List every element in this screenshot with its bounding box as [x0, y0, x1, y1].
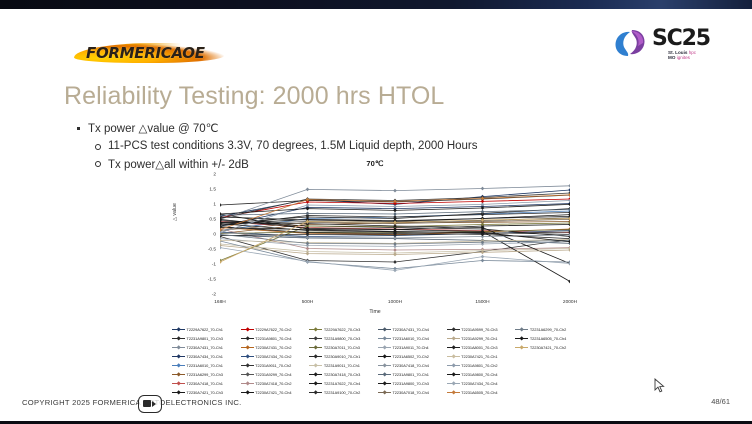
chart-x-tick: 1500H [475, 300, 489, 305]
legend-swatch-icon [309, 354, 322, 360]
legend-swatch-icon [172, 363, 185, 369]
chart-y-tick: -0.5 [208, 248, 216, 253]
legend-label: T2230A7434_70-Ch1 [187, 354, 223, 359]
legend-item: T2230A7421_70-Ch2 [515, 343, 582, 352]
legend-label: T2230A7421_70-Ch3 [187, 390, 223, 395]
legend-swatch-icon [515, 336, 528, 342]
legend-label: T2231A9801_70-Ch3 [187, 336, 223, 341]
chart-y-tick: 2 [213, 173, 216, 178]
legend-item: T2231A6505_70-Ch4 [447, 388, 514, 397]
legend-label: T2231A6010_70-Ch4 [392, 336, 428, 341]
legend-item: T2231A6502_70-Ch2 [378, 352, 445, 361]
legend-item: T2230A7418_70-Ch2 [241, 379, 308, 388]
legend-item: T2230A7431_70-Ch2 [241, 343, 308, 352]
legend-item: T2231A6299_70-Ch3 [172, 370, 239, 379]
chart-series-marker [481, 259, 485, 263]
legend-item: T2230A7421_70-Ch1 [447, 352, 514, 361]
legend-label: T2231A9800_70-Ch3 [324, 336, 360, 341]
chart-series-marker [481, 187, 485, 191]
bullet-item: 11-PCS test conditions 3.3V, 70 degrees,… [74, 140, 478, 152]
legend-item: T2231A8001_70-Ch3 [447, 343, 514, 352]
legend-label: T2230A7011_70-Ch3 [324, 345, 360, 350]
legend-swatch-icon [378, 372, 391, 378]
sc25-text: SC25 [652, 26, 710, 51]
legend-swatch-icon [447, 336, 460, 342]
legend-item: T2230A7431_70-Ch4 [378, 325, 445, 334]
presentation-slide: FORMERICAOE SC25 St. Louis hpc MO ignite… [0, 9, 752, 421]
sc25-tagline-city: St. Louis [668, 50, 687, 55]
legend-item: T2229A7622_70-Ch3 [309, 325, 376, 334]
legend-item: T2231A6010_70-Ch1 [172, 361, 239, 370]
legend-swatch-icon [447, 372, 460, 378]
legend-label: T2229A7622_70-Ch3 [324, 327, 360, 332]
chart-x-tick: 168H [214, 300, 225, 305]
legend-swatch-icon [241, 390, 254, 396]
legend-spacer [515, 388, 582, 397]
chart-series-marker [306, 203, 310, 207]
chart-x-axis-label: Time [160, 309, 590, 315]
legend-label: T2231A9011_70-Ch4 [392, 345, 428, 350]
legend-swatch-icon [447, 381, 460, 387]
mouse-pointer-icon [654, 378, 666, 394]
sc25-tagline: St. Louis hpc MO ignites [668, 50, 696, 61]
legend-swatch-icon [515, 345, 528, 351]
chart-y-tick: 0 [213, 233, 216, 238]
legend-swatch-icon [172, 354, 185, 360]
sc25-swirl-icon [612, 28, 648, 58]
legend-label: T2229A7622_70-Ch2 [255, 327, 291, 332]
legend-item: T2231A7622_70-Ch4 [309, 379, 376, 388]
legend-item: T2231A9299_70-Ch1 [447, 334, 514, 343]
legend-label: T2231A6505_70-Ch4 [461, 390, 497, 395]
legend-swatch-icon [447, 354, 460, 360]
legend-label: T2230A7434_70-Ch2 [255, 354, 291, 359]
legend-swatch-icon [309, 363, 322, 369]
legend-item: T2231A6299_70-Ch2 [515, 325, 582, 334]
legend-label: T2230A7434_70-Ch4 [461, 381, 497, 386]
legend-swatch-icon [309, 381, 322, 387]
chart-series-marker [306, 188, 310, 192]
legend-label: T2230A7421_70-Ch4 [255, 390, 291, 395]
legend-item: T2230A7018_70-Ch4 [378, 388, 445, 397]
legend-swatch-icon [172, 372, 185, 378]
legend-label: T2231A7622_70-Ch4 [324, 381, 360, 386]
legend-label: T2231A9800_70-Ch3 [392, 381, 428, 386]
video-letterbox-top [0, 0, 752, 9]
legend-item: T2231A9801_70-Ch2 [447, 361, 514, 370]
chart-series-marker [393, 242, 397, 246]
legend-item: T2231A9801_70-Ch3 [172, 334, 239, 343]
legend-item: T2231A9800_70-Ch3 [309, 334, 376, 343]
sc25-tagline-hpc: hpc [689, 50, 696, 55]
legend-label: T2231A8001_70-Ch3 [461, 345, 497, 350]
chart-x-tick: 500H [302, 300, 313, 305]
legend-item: T2230A7431_70-Ch1 [172, 343, 239, 352]
chart-y-tick: -1 [212, 263, 216, 268]
chart-series-marker [393, 212, 397, 216]
reliability-line-chart: 70℃ △ value Time 21.510.50-0.5-1-1.5-2 1… [160, 159, 590, 319]
legend-label: T2231A6502_70-Ch2 [392, 354, 428, 359]
chart-y-tick: 0.5 [209, 218, 216, 223]
formerica-wordmark: FORMERICAOE [86, 44, 205, 62]
legend-item: T2231A9299_70-Ch4 [241, 370, 308, 379]
legend-swatch-icon [241, 336, 254, 342]
legend-swatch-icon [378, 327, 391, 333]
legend-swatch-icon [241, 363, 254, 369]
bullet-item: Tx power △value @ 70℃ [74, 121, 478, 135]
legend-label: T2229A7622_70-Ch1 [187, 327, 223, 332]
legend-label: T2231A9801_70-Ch1 [392, 372, 428, 377]
legend-item: T2231A6505_70-Ch4 [515, 334, 582, 343]
legend-spacer [515, 379, 582, 388]
legend-swatch-icon [378, 381, 391, 387]
legend-label: T2230A7418_70-Ch2 [255, 381, 291, 386]
legend-label: T2230A7431_70-Ch1 [187, 345, 223, 350]
chart-series-marker [393, 260, 397, 264]
legend-swatch-icon [378, 354, 391, 360]
chart-y-tick: 1 [213, 203, 216, 208]
legend-item: T2231A9011_70-Ch2 [241, 361, 308, 370]
legend-item: T2230A7418_70-Ch1 [172, 379, 239, 388]
legend-label: T2230A7418_70-Ch1 [187, 381, 223, 386]
legend-item: T2231A9801_70-Ch4 [241, 334, 308, 343]
chart-legend: T2229A7622_70-Ch1T2229A7622_70-Ch2T2229A… [172, 325, 582, 397]
legend-label: T2230A7421_70-Ch1 [461, 354, 497, 359]
legend-item: T2231A9011_70-Ch1 [309, 361, 376, 370]
legend-label: T2230A7018_70-Ch4 [392, 390, 428, 395]
legend-spacer [515, 352, 582, 361]
legend-swatch-icon [172, 381, 185, 387]
camera-badge-icon [138, 395, 162, 413]
chart-title: 70℃ [160, 159, 590, 168]
chart-x-tick: 1000H [388, 300, 402, 305]
copyright-footer: COPYRIGHT 2025 FORMERICA OPTOELECTRONICS… [22, 398, 242, 407]
page-title: Reliability Testing: 2000 hrs HTOL [64, 82, 444, 111]
legend-swatch-icon [447, 390, 460, 396]
chart-series-marker [393, 189, 397, 193]
chart-series-marker [220, 203, 222, 207]
legend-item: T2231A9599_70-Ch3 [447, 325, 514, 334]
chart-y-tick: 1.5 [209, 188, 216, 193]
chart-x-tick: 2000H [563, 300, 577, 305]
legend-item: T2231A9801_70-Ch1 [378, 370, 445, 379]
legend-spacer [515, 361, 582, 370]
legend-label: T2230A9010_70-Ch1 [324, 354, 360, 359]
legend-swatch-icon [172, 390, 185, 396]
legend-swatch-icon [241, 354, 254, 360]
chart-series-marker [306, 252, 310, 256]
legend-swatch-icon [515, 327, 528, 333]
legend-label: T2231A9599_70-Ch3 [461, 327, 497, 332]
legend-label: T2230A7421_70-Ch2 [530, 345, 566, 350]
legend-label: T2231A9800_70-Ch4 [461, 372, 497, 377]
legend-swatch-icon [378, 345, 391, 351]
legend-label: T2231A9011_70-Ch2 [255, 363, 291, 368]
page-number: 48/61 [711, 397, 730, 406]
legend-swatch-icon [241, 327, 254, 333]
legend-label: T2230A7431_70-Ch4 [392, 327, 428, 332]
legend-swatch-icon [172, 345, 185, 351]
legend-label: T2231A9801_70-Ch2 [461, 363, 497, 368]
legend-item: T2231A9800_70-Ch3 [378, 379, 445, 388]
legend-item: T2231A9100_70-Ch2 [309, 388, 376, 397]
legend-label: T2231A9299_70-Ch4 [255, 372, 291, 377]
legend-label: T2231A9801_70-Ch4 [255, 336, 291, 341]
legend-item: T2231A9800_70-Ch4 [447, 370, 514, 379]
legend-label: T2231A6010_70-Ch1 [187, 363, 223, 368]
legend-item: T2230A9010_70-Ch1 [309, 352, 376, 361]
legend-swatch-icon [309, 336, 322, 342]
legend-label: T2231A6299_70-Ch3 [187, 372, 223, 377]
chart-plot-area: 21.510.50-0.5-1-1.5-2 168H500H1000H1500H… [220, 175, 570, 295]
chart-y-tick: -2 [212, 293, 216, 298]
legend-item: T2229A7622_70-Ch2 [241, 325, 308, 334]
chart-series-marker [481, 203, 485, 207]
legend-item: T2230A7434_70-Ch1 [172, 352, 239, 361]
legend-swatch-icon [309, 372, 322, 378]
legend-spacer [515, 370, 582, 379]
legend-item: T2230A7418_70-Ch4 [378, 361, 445, 370]
chart-series-marker [393, 205, 397, 209]
legend-label: T2231A9100_70-Ch2 [324, 390, 360, 395]
legend-swatch-icon [309, 390, 322, 396]
legend-swatch-icon [309, 345, 322, 351]
chart-y-tick: -1.5 [208, 278, 216, 283]
legend-item: T2230A7421_70-Ch4 [241, 388, 308, 397]
legend-swatch-icon [309, 327, 322, 333]
legend-swatch-icon [447, 327, 460, 333]
legend-item: T2230A7011_70-Ch3 [309, 343, 376, 352]
legend-swatch-icon [241, 372, 254, 378]
chart-y-axis-label: △ value [172, 203, 178, 221]
legend-swatch-icon [241, 381, 254, 387]
legend-swatch-icon [378, 390, 391, 396]
legend-label: T2230A7418_70-Ch3 [324, 372, 360, 377]
sc25-logo: SC25 St. Louis hpc MO ignites [612, 26, 730, 62]
legend-item: T2231A9011_70-Ch4 [378, 343, 445, 352]
legend-item: T2230A7434_70-Ch4 [447, 379, 514, 388]
legend-label: T2230A7418_70-Ch4 [392, 363, 428, 368]
legend-item: T2229A7622_70-Ch1 [172, 325, 239, 334]
chart-series-marker [568, 188, 570, 192]
chart-series-marker [306, 212, 310, 216]
chart-series-marker [481, 255, 485, 259]
legend-swatch-icon [378, 336, 391, 342]
legend-item: T2230A7421_70-Ch3 [172, 388, 239, 397]
legend-swatch-icon [172, 327, 185, 333]
chart-series-marker [568, 184, 570, 188]
legend-label: T2231A9299_70-Ch1 [461, 336, 497, 341]
legend-item: T2230A7434_70-Ch2 [241, 352, 308, 361]
legend-label: T2231A6299_70-Ch2 [530, 327, 566, 332]
legend-swatch-icon [447, 345, 460, 351]
formerica-logo: FORMERICAOE [74, 39, 234, 65]
legend-label: T2231A6505_70-Ch4 [530, 336, 566, 341]
legend-item: T2231A6010_70-Ch4 [378, 334, 445, 343]
legend-swatch-icon [378, 363, 391, 369]
legend-swatch-icon [241, 345, 254, 351]
legend-label: T2230A7431_70-Ch2 [255, 345, 291, 350]
sc25-tagline-state: MO [668, 55, 675, 60]
sc25-tagline-ignites: ignites [677, 55, 690, 60]
legend-swatch-icon [172, 336, 185, 342]
chart-series-layer [220, 175, 570, 295]
legend-swatch-icon [447, 363, 460, 369]
legend-label: T2231A9011_70-Ch1 [324, 363, 360, 368]
legend-item: T2230A7418_70-Ch3 [309, 370, 376, 379]
